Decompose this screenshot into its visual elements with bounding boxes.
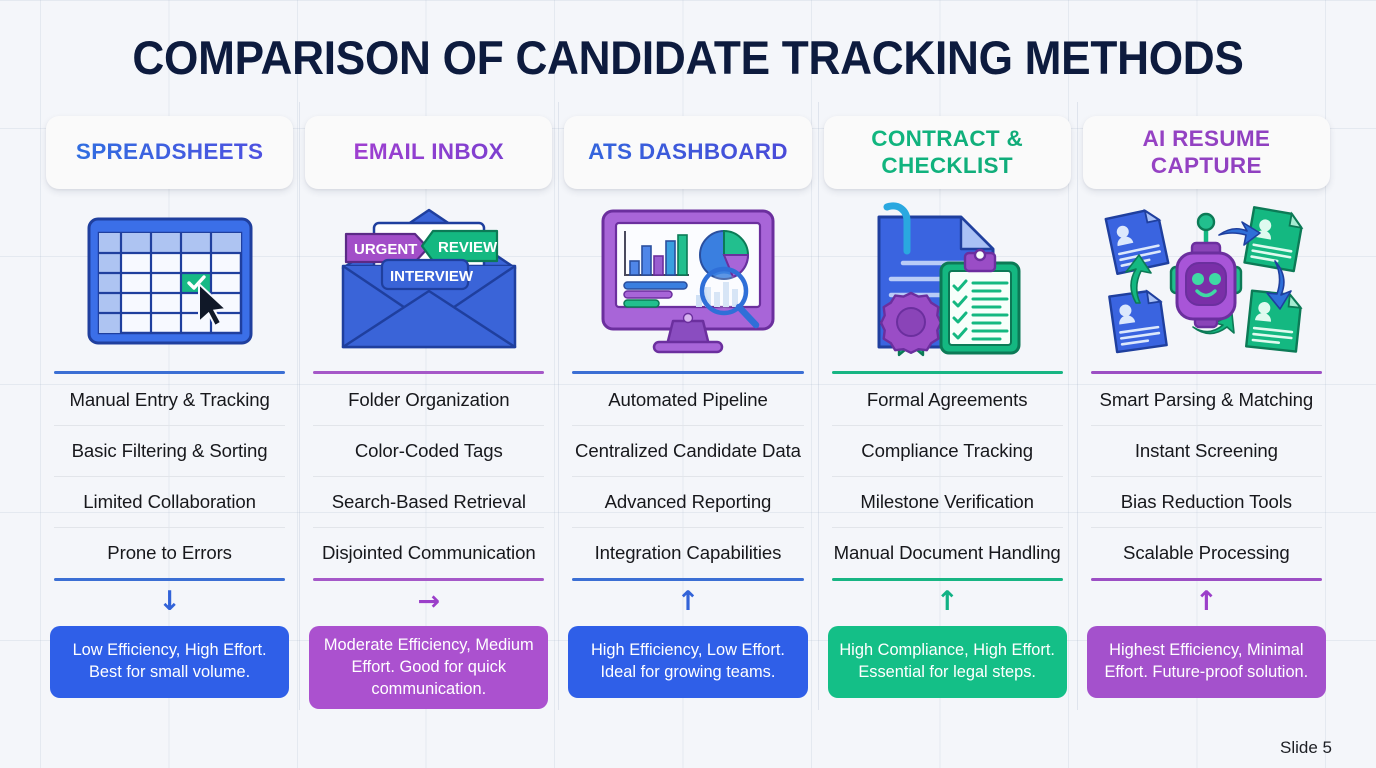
icon-ats-dashboard-monitor-icon bbox=[564, 189, 811, 371]
header-card-ai-resume-capture[interactable]: AI RESUME CAPTURE bbox=[1083, 116, 1330, 189]
header-label-spreadsheets: SPREADSHEETS bbox=[68, 139, 271, 165]
icon-contract-seal-clipboard-icon bbox=[824, 189, 1071, 371]
arrow-up-icon: ↑ bbox=[1083, 581, 1330, 622]
list-item: Manual Entry & Tracking bbox=[54, 374, 285, 425]
header-label-contract-checklist: CONTRACT & CHECKLIST bbox=[824, 126, 1071, 178]
header-label-ai-resume-capture: AI RESUME CAPTURE bbox=[1083, 126, 1330, 178]
slide-number: Slide 5 bbox=[1280, 738, 1332, 758]
arrow-glyph: ↑ bbox=[1195, 588, 1218, 615]
list-item: Instant Screening bbox=[1091, 425, 1322, 476]
feature-list-contract-checklist: Formal Agreements Compliance Tracking Mi… bbox=[832, 374, 1063, 578]
header-card-spreadsheets[interactable]: SPREADSHEETS bbox=[46, 116, 293, 189]
list-item: Color-Coded Tags bbox=[313, 425, 544, 476]
ai-robot-resume-icon bbox=[1099, 203, 1314, 358]
arrow-glyph: → bbox=[417, 588, 440, 615]
list-item: Advanced Reporting bbox=[572, 476, 803, 527]
list-item: Automated Pipeline bbox=[572, 374, 803, 425]
ats-dashboard-monitor-icon bbox=[593, 203, 783, 358]
header-card-contract-checklist[interactable]: CONTRACT & CHECKLIST bbox=[824, 116, 1071, 189]
column-ai-resume-capture: AI RESUME CAPTURE bbox=[1077, 112, 1336, 732]
icon-ai-robot-resume-icon bbox=[1083, 189, 1330, 371]
list-item: Search-Based Retrieval bbox=[313, 476, 544, 527]
comparison-columns: SPREADSHEETS bbox=[40, 112, 1336, 732]
icon-spreadsheet-table-icon bbox=[46, 189, 293, 371]
list-item: Integration Capabilities bbox=[572, 527, 803, 578]
svg-text:INTERVIEW: INTERVIEW bbox=[390, 268, 474, 285]
summary-box-contract-checklist: High Compliance, High Effort. Essential … bbox=[828, 626, 1067, 698]
spreadsheet-table-icon bbox=[80, 205, 260, 355]
arrow-glyph: ↓ bbox=[158, 588, 181, 615]
arrow-glyph: ↑ bbox=[677, 588, 700, 615]
list-item: Prone to Errors bbox=[54, 527, 285, 578]
contract-seal-clipboard-icon bbox=[857, 201, 1037, 359]
arrow-up-icon: ↑ bbox=[824, 581, 1071, 622]
svg-text:REVIEW: REVIEW bbox=[438, 239, 498, 256]
header-card-email-inbox[interactable]: EMAIL INBOX bbox=[305, 116, 552, 189]
list-item: Basic Filtering & Sorting bbox=[54, 425, 285, 476]
arrow-up-icon: ↑ bbox=[564, 581, 811, 622]
svg-text:URGENT: URGENT bbox=[354, 241, 417, 258]
list-item: Disjointed Communication bbox=[313, 527, 544, 578]
icon-email-envelope-tags-icon: URGENT REVIEW INTERVIEW bbox=[305, 189, 552, 371]
arrow-glyph: ↑ bbox=[936, 588, 959, 615]
page-title: COMPARISON OF CANDIDATE TRACKING METHODS bbox=[41, 30, 1334, 85]
list-item: Centralized Candidate Data bbox=[572, 425, 803, 476]
header-card-ats-dashboard[interactable]: ATS DASHBOARD bbox=[564, 116, 811, 189]
column-spreadsheets: SPREADSHEETS bbox=[40, 112, 299, 732]
arrow-right-icon: → bbox=[305, 581, 552, 622]
column-contract-checklist: CONTRACT & CHECKLIST bbox=[818, 112, 1077, 732]
list-item: Compliance Tracking bbox=[832, 425, 1063, 476]
list-item: Smart Parsing & Matching bbox=[1091, 374, 1322, 425]
list-item: Milestone Verification bbox=[832, 476, 1063, 527]
feature-list-ai-resume-capture: Smart Parsing & Matching Instant Screeni… bbox=[1091, 374, 1322, 578]
header-label-email-inbox: EMAIL INBOX bbox=[346, 139, 512, 165]
feature-list-spreadsheets: Manual Entry & Tracking Basic Filtering … bbox=[54, 374, 285, 578]
summary-box-email-inbox: Moderate Efficiency, Medium Effort. Good… bbox=[309, 626, 548, 709]
column-ats-dashboard: ATS DASHBOARD bbox=[558, 112, 817, 732]
arrow-down-icon: ↓ bbox=[46, 581, 293, 622]
list-item: Formal Agreements bbox=[832, 374, 1063, 425]
feature-list-email-inbox: Folder Organization Color-Coded Tags Sea… bbox=[313, 374, 544, 578]
list-item: Limited Collaboration bbox=[54, 476, 285, 527]
list-item: Folder Organization bbox=[313, 374, 544, 425]
list-item: Scalable Processing bbox=[1091, 527, 1322, 578]
summary-box-spreadsheets: Low Efficiency, High Effort. Best for sm… bbox=[50, 626, 289, 698]
list-item: Manual Document Handling bbox=[832, 527, 1063, 578]
summary-box-ats-dashboard: High Efficiency, Low Effort. Ideal for g… bbox=[568, 626, 807, 698]
summary-box-ai-resume-capture: Highest Efficiency, Minimal Effort. Futu… bbox=[1087, 626, 1326, 698]
header-label-ats-dashboard: ATS DASHBOARD bbox=[580, 139, 796, 165]
email-envelope-tags-icon: URGENT REVIEW INTERVIEW bbox=[329, 204, 529, 356]
feature-list-ats-dashboard: Automated Pipeline Centralized Candidate… bbox=[572, 374, 803, 578]
list-item: Bias Reduction Tools bbox=[1091, 476, 1322, 527]
column-email-inbox: EMAIL INBOX URGENT REVIEW INTERVIEW Fold… bbox=[299, 112, 558, 732]
